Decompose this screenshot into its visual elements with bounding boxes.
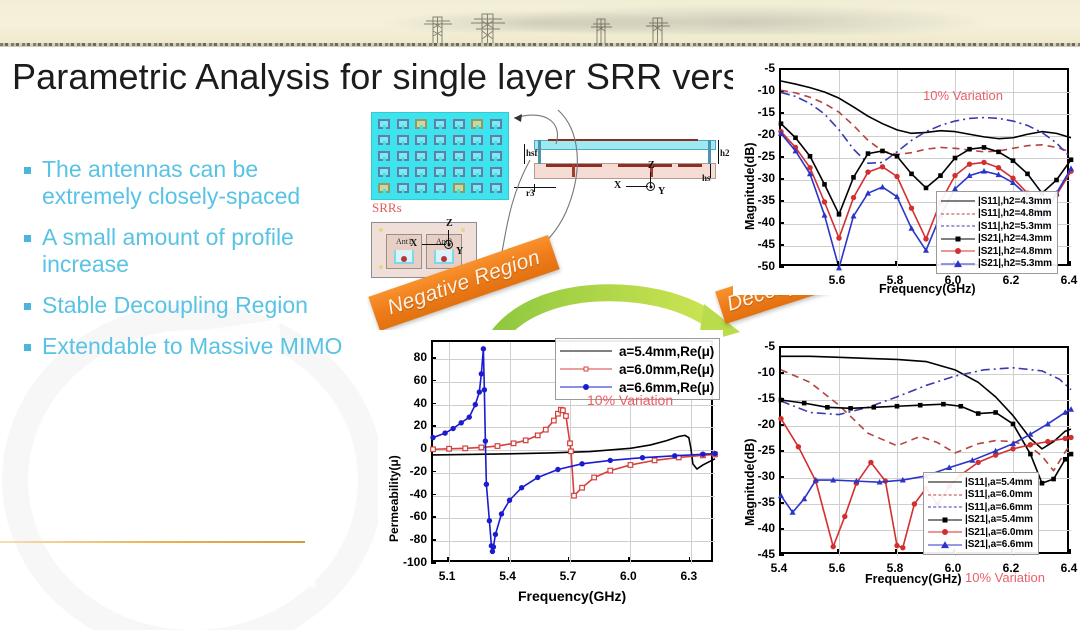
feed-point-icon	[401, 256, 407, 262]
series-marker	[447, 446, 452, 451]
series-marker	[895, 404, 900, 409]
series-marker	[981, 160, 986, 165]
legend-swatch	[941, 220, 975, 232]
xtick-label: 6.3	[680, 569, 697, 583]
srr-unit-cell	[395, 149, 412, 163]
series-marker	[796, 444, 801, 449]
series-marker	[912, 501, 917, 506]
xtick	[779, 549, 781, 554]
series-line	[781, 92, 1071, 163]
header-band-image	[0, 0, 1080, 46]
srr-unit-cell	[432, 165, 449, 179]
series-marker	[467, 414, 472, 419]
bullet-square-icon	[24, 235, 31, 242]
ytick-label: -5	[749, 61, 775, 75]
ytick-label: -40	[749, 521, 775, 535]
series-marker	[923, 236, 928, 241]
xtick-label: 5.4	[771, 561, 788, 575]
list-item: Stable Decoupling Region	[14, 292, 344, 319]
ring-gap	[457, 125, 460, 129]
chart1-annotation: 10% Variation	[923, 88, 1003, 103]
footer-rule	[0, 541, 305, 543]
series-marker	[880, 184, 886, 190]
series-marker	[880, 149, 885, 154]
series-marker	[866, 151, 871, 156]
series-marker	[499, 511, 504, 516]
xtick-label: 5.6	[829, 561, 846, 575]
srr-unit-cell	[450, 133, 467, 147]
series-marker	[579, 461, 584, 466]
legend-swatch	[928, 501, 962, 513]
series-marker	[822, 212, 828, 218]
list-item: Extendable to Massive MIMO	[14, 333, 344, 360]
series-marker	[511, 441, 516, 446]
legend-label: |S11|,h2=4.8mm	[978, 208, 1051, 219]
ytick-label: -45	[749, 547, 775, 561]
legend-item: |S21|,h2=4.3mm	[941, 233, 1052, 246]
series-marker	[1045, 439, 1050, 444]
srr-unit-cell	[376, 149, 393, 163]
ring-gap	[457, 173, 460, 177]
series-marker	[967, 147, 972, 152]
srr-unit-cell	[376, 133, 393, 147]
xtick	[1069, 261, 1071, 266]
ring-gap	[402, 173, 405, 177]
ring-gap	[494, 125, 497, 129]
series-marker	[1025, 172, 1030, 177]
series-marker	[555, 467, 560, 472]
legend-label: |S11|,a=6.6mm	[965, 502, 1032, 513]
ytick-label: 80	[401, 350, 427, 364]
series-marker	[918, 403, 923, 408]
ring-gap	[476, 141, 479, 145]
srr-unit-cell	[432, 117, 449, 131]
series-marker	[569, 449, 574, 454]
series-marker	[483, 438, 488, 443]
series-marker	[1011, 158, 1016, 163]
series-line	[781, 400, 1071, 483]
bullet-square-icon	[24, 167, 31, 174]
series-marker	[981, 168, 987, 174]
chart-s-params-h2: Magnitude(dB) -5-10-15-20-25-30-35-40-45…	[733, 60, 1080, 295]
dimension-line	[718, 140, 719, 164]
via-dot	[379, 265, 383, 269]
ytick-label: 40	[401, 396, 427, 410]
legend-label: a=6.0mm,Re(μ)	[619, 362, 714, 377]
srr-unit-cell	[413, 165, 430, 179]
xtick-label: 6.4	[1061, 561, 1078, 575]
legend-item: |S21|,h2=4.8mm	[941, 245, 1052, 258]
legend-label: |S21|,h2=4.3mm	[978, 233, 1052, 244]
ring-gap	[383, 189, 386, 193]
ring-gap	[420, 141, 423, 145]
ytick-label: -40	[401, 487, 427, 501]
ytick-label: 0	[401, 441, 427, 455]
series-marker	[1068, 406, 1074, 412]
axis-label-z: Z	[648, 160, 655, 171]
chart-permeability-a: Permeability(μ) 806040200-20-40-60-80-10…	[378, 330, 723, 608]
series-marker	[544, 427, 549, 432]
xtick	[1069, 549, 1071, 554]
series-marker	[700, 452, 705, 457]
ring-gap	[439, 141, 442, 145]
legend-swatch	[928, 526, 962, 538]
xtick-label: 5.6	[829, 273, 846, 287]
series-marker	[1028, 442, 1033, 447]
ytick-label: -30	[749, 171, 775, 185]
series-marker	[479, 445, 484, 450]
axis-indicator-xyz: X Y Z	[408, 224, 478, 264]
ytick-label: -50	[749, 259, 775, 273]
series-marker	[822, 199, 827, 204]
series-marker	[608, 468, 613, 473]
support-post	[708, 140, 711, 164]
xtick	[837, 549, 839, 554]
series-marker	[842, 514, 847, 519]
series-marker	[564, 414, 569, 419]
series-marker	[430, 435, 435, 440]
footer-citation	[98, 548, 348, 602]
series-marker	[580, 485, 585, 490]
chart1-xlabel: Frequency(GHz)	[879, 282, 976, 296]
ytick-label: -15	[749, 391, 775, 405]
substrate-trace	[678, 164, 702, 167]
ring-gap	[383, 125, 386, 129]
ring-gap	[476, 157, 479, 161]
ring-gap	[476, 189, 479, 193]
series-marker	[894, 543, 899, 548]
series-marker	[982, 145, 987, 150]
series-marker	[1068, 165, 1074, 171]
srr-unit-cell	[432, 181, 449, 195]
srr-unit-cell	[432, 149, 449, 163]
series-marker	[481, 346, 486, 351]
series-marker	[1010, 446, 1015, 451]
series-marker	[880, 164, 885, 169]
chart-s-params-a: Magnitude(dB) -5-10-15-20-25-30-35-40-45…	[733, 338, 1080, 608]
srr-unit-cell	[469, 117, 486, 131]
ring-gap	[383, 157, 386, 161]
ytick-label: -15	[749, 105, 775, 119]
bullet-square-icon	[24, 303, 31, 310]
chart3-annotation: 10% Variation	[965, 570, 1045, 585]
ytick-label: -10	[749, 365, 775, 379]
xtick-label: 5.1	[439, 569, 456, 583]
power-tower-icon	[584, 14, 618, 45]
list-item: A small amount of profile increase	[14, 224, 344, 278]
series-marker	[628, 463, 633, 468]
ytick-label: -25	[749, 443, 775, 457]
chart2-legend: a=5.4mm,Re(μ)a=6.0mm,Re(μ)a=6.6mm,Re(μ)	[555, 338, 720, 400]
series-marker	[779, 121, 784, 126]
xtick-label: 6.0	[620, 569, 637, 583]
legend-item: |S11|,h2=4.3mm	[941, 195, 1052, 208]
series-marker	[1045, 421, 1051, 427]
series-marker	[976, 460, 981, 465]
srr-unit-cell	[469, 165, 486, 179]
series-marker	[490, 549, 495, 554]
ring-gap	[420, 157, 423, 161]
series-marker	[672, 453, 677, 458]
srr-unit-cell	[469, 149, 486, 163]
series-marker	[608, 458, 613, 463]
series-marker	[477, 389, 482, 394]
ring-gap	[457, 157, 460, 161]
legend-swatch	[941, 208, 975, 220]
legend-item: |S11|,a=5.4mm	[928, 476, 1033, 489]
series-marker	[1040, 481, 1045, 486]
legend-swatch	[928, 489, 962, 501]
substrate-trace	[618, 164, 672, 167]
legend-label: |S21|,a=5.4mm	[965, 514, 1033, 525]
series-marker	[592, 475, 597, 480]
srr-unit-cell	[413, 181, 430, 195]
legend-item: |S11|,h2=5.3mm	[941, 220, 1052, 233]
series-marker	[851, 175, 856, 180]
series-marker	[1068, 435, 1073, 440]
bullet-square-icon	[24, 344, 31, 351]
ring-gap	[402, 189, 405, 193]
bullet-list: The antennas can be extremely closely-sp…	[14, 156, 344, 374]
xtick	[568, 557, 570, 562]
legend-item: |S11|,a=6.6mm	[928, 501, 1033, 514]
series-marker	[535, 475, 540, 480]
srr-unit-cell	[450, 181, 467, 195]
srr-unit-cell	[469, 133, 486, 147]
ytick-label: -30	[749, 469, 775, 483]
legend-swatch	[928, 476, 962, 488]
srr-unit-cell	[376, 117, 393, 131]
series-marker	[1028, 452, 1033, 457]
series-marker	[1063, 436, 1068, 441]
legend-item: |S11|,a=6.0mm	[928, 489, 1033, 502]
series-marker	[996, 150, 1001, 155]
series-marker	[967, 161, 972, 166]
slide-root: Parametric Analysis for single layer SRR…	[0, 0, 1080, 608]
ytick-label: -20	[749, 127, 775, 141]
series-marker	[802, 401, 807, 406]
series-marker	[836, 235, 841, 240]
ring-gap	[420, 125, 423, 129]
legend-swatch	[941, 258, 975, 270]
series-marker	[909, 172, 914, 177]
series-marker	[831, 544, 836, 549]
series-marker	[1069, 157, 1074, 162]
ring-gap	[439, 125, 442, 129]
ytick-label: -35	[749, 193, 775, 207]
series-marker	[652, 458, 657, 463]
series-marker	[837, 212, 842, 217]
series-line	[433, 435, 715, 469]
series-marker	[959, 404, 964, 409]
legend-item: a=5.4mm,Re(μ)	[560, 342, 714, 360]
series-marker	[495, 444, 500, 449]
legend-label: |S21|,h2=5.3mm	[978, 258, 1052, 269]
series-marker	[484, 482, 489, 487]
xtick-label: 5.4	[499, 569, 516, 583]
legend-label: |S11|,h2=5.3mm	[978, 221, 1051, 232]
series-marker	[851, 195, 856, 200]
xtick	[508, 557, 510, 562]
series-marker	[779, 398, 784, 403]
series-marker	[1069, 452, 1074, 457]
srr-unit-cell	[376, 165, 393, 179]
ring-gap	[457, 189, 460, 193]
xtick-label: 6.4	[1061, 273, 1078, 287]
srr-unit-cell	[395, 165, 412, 179]
series-marker	[924, 186, 929, 191]
srr-array-diagram	[371, 112, 509, 200]
series-marker	[822, 182, 827, 187]
ytick-label: -25	[749, 149, 775, 163]
srr-unit-cell	[395, 181, 412, 195]
series-marker	[507, 498, 512, 503]
xtick-label: 5.7	[560, 569, 577, 583]
series-marker	[941, 402, 946, 407]
xtick	[628, 557, 630, 562]
power-tower-icon	[640, 13, 676, 45]
power-tower-icon	[418, 11, 458, 45]
ring-gap	[439, 173, 442, 177]
ring-gap	[420, 173, 423, 177]
legend-item: |S21|,a=6.0mm	[928, 526, 1033, 539]
legend-label: |S11|,a=5.4mm	[965, 477, 1032, 488]
series-marker	[493, 532, 498, 537]
header-divider-thin	[0, 46, 1080, 47]
srr-unit-cell	[413, 117, 430, 131]
series-marker	[450, 426, 455, 431]
bullet-text: The antennas can be extremely closely-sp…	[42, 156, 344, 210]
legend-swatch	[560, 361, 612, 377]
series-marker	[895, 154, 900, 159]
srr-unit-cell	[450, 149, 467, 163]
series-marker	[938, 173, 943, 178]
bullet-text: Extendable to Massive MIMO	[42, 333, 342, 360]
series-marker	[1063, 457, 1068, 462]
ytick-label: -40	[749, 215, 775, 229]
series-marker	[572, 493, 577, 498]
series-marker	[1051, 477, 1056, 482]
ring-gap	[420, 189, 423, 193]
series-marker	[552, 418, 557, 423]
srr-unit-cell	[469, 181, 486, 195]
chart3-legend: |S11|,a=5.4mm|S11|,a=6.0mm|S11|,a=6.6mm|…	[923, 472, 1039, 555]
ytick-label: 20	[401, 418, 427, 432]
list-item: The antennas can be extremely closely-sp…	[14, 156, 344, 210]
axis-label-x: X	[410, 238, 417, 249]
series-marker	[778, 416, 783, 421]
series-marker	[561, 408, 566, 413]
series-marker	[640, 455, 645, 460]
legend-label: |S21|,h2=4.8mm	[978, 246, 1052, 257]
series-marker	[865, 169, 870, 174]
ring-gap	[439, 189, 442, 193]
legend-item: |S21|,a=5.4mm	[928, 514, 1033, 527]
series-marker	[463, 446, 468, 451]
dimension-label-hs: hs	[702, 173, 711, 183]
ring-gap	[494, 157, 497, 161]
axis-label-y: Y	[456, 246, 463, 257]
legend-swatch	[941, 245, 975, 257]
chart2-xlabel: Frequency(GHz)	[518, 588, 626, 604]
series-marker	[993, 410, 998, 415]
series-marker	[535, 433, 540, 438]
ytick-label: -100	[401, 555, 427, 569]
ring-gap	[402, 157, 405, 161]
srr-unit-cell	[450, 117, 467, 131]
ytick-label: -60	[401, 509, 427, 523]
series-marker	[872, 405, 877, 410]
series-marker	[487, 518, 492, 523]
series-marker	[712, 451, 717, 456]
xtick	[895, 261, 897, 266]
ring-gap	[494, 189, 497, 193]
series-marker	[1054, 178, 1059, 183]
series-marker	[952, 173, 957, 178]
dimension-label-h2: h2	[720, 148, 730, 158]
legend-label: |S11|,h2=4.3mm	[978, 196, 1051, 207]
page-title: Parametric Analysis for single layer SRR…	[12, 56, 772, 98]
chart3-xlabel: Frequency(GHz)	[865, 572, 962, 586]
ring-gap	[439, 157, 442, 161]
axis-label-y: Y	[658, 186, 665, 197]
chart2-ylabel: Permeability(μ)	[387, 455, 401, 542]
series-marker	[909, 205, 914, 210]
series-marker	[568, 441, 573, 446]
bullet-text: A small amount of profile increase	[42, 224, 344, 278]
bullet-text: Stable Decoupling Region	[42, 292, 308, 319]
ytick-label: -10	[749, 83, 775, 97]
legend-swatch	[941, 233, 975, 245]
series-marker	[793, 135, 798, 140]
xtick	[447, 557, 449, 562]
srr-unit-cell	[413, 149, 430, 163]
legend-label: |S21|,a=6.6mm	[965, 539, 1033, 550]
series-marker	[953, 156, 958, 161]
series-marker	[900, 545, 905, 550]
ring-gap	[476, 125, 479, 129]
ring-gap	[402, 141, 405, 145]
legend-swatch	[928, 514, 962, 526]
ring-gap	[494, 173, 497, 177]
series-marker	[431, 447, 436, 452]
series-marker	[996, 165, 1001, 170]
xtick	[837, 261, 839, 266]
series-marker	[894, 174, 899, 179]
series-marker	[459, 420, 464, 425]
srr-unit-cell	[432, 133, 449, 147]
xtick	[689, 557, 691, 562]
ytick-label: -80	[401, 532, 427, 546]
series-marker	[909, 225, 915, 231]
legend-item: |S11|,h2=4.8mm	[941, 208, 1052, 221]
ring-gap	[383, 141, 386, 145]
series-marker	[868, 460, 873, 465]
legend-item: |S21|,h2=5.3mm	[941, 258, 1052, 271]
series-marker	[473, 402, 478, 407]
legend-swatch	[928, 539, 962, 551]
xtick-label: 6.2	[1003, 273, 1020, 287]
power-tower-icon	[466, 9, 510, 45]
series-marker	[479, 371, 484, 376]
ytick-label: -5	[749, 339, 775, 353]
srr-unit-cell	[450, 165, 467, 179]
srr-unit-cell	[413, 133, 430, 147]
srr-array-label: SRRs	[372, 200, 402, 216]
legend-swatch	[941, 195, 975, 207]
ring-gap	[402, 125, 405, 129]
series-marker	[848, 406, 853, 411]
